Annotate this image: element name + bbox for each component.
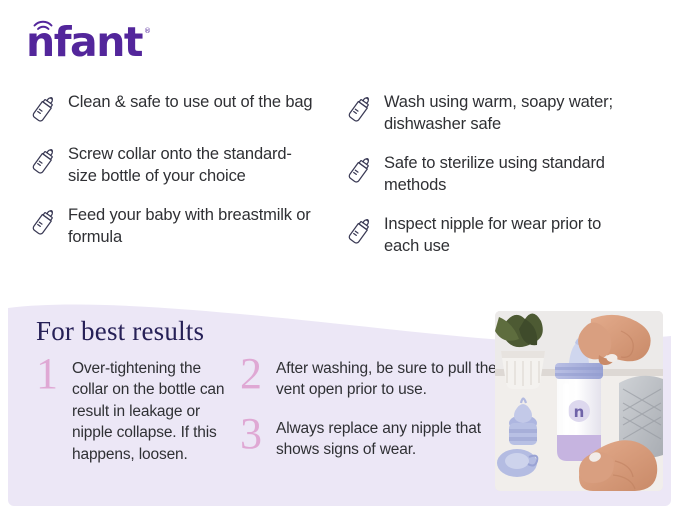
trademark-symbol: ® — [144, 27, 151, 35]
baby-bottle-icon — [26, 206, 60, 240]
baby-bottle-icon — [26, 93, 60, 127]
tip-text: After washing, be sure to pull the vent … — [276, 354, 498, 401]
tip-item: 1 Over-tightening the collar on the bott… — [36, 354, 236, 465]
tip-item: 3 Always replace any nipple that shows s… — [240, 414, 498, 461]
feature-text: Safe to sterilize using standard methods — [384, 153, 639, 197]
feature-item: Wash using warm, soapy water; dishwasher… — [342, 92, 658, 136]
baby-bottle-icon — [342, 154, 376, 188]
feature-text: Screw collar onto the standard-size bott… — [68, 144, 320, 188]
feature-text: Feed your baby with breastmilk or formul… — [68, 205, 320, 249]
feature-text: Clean & safe to use out of the bag — [68, 92, 312, 114]
tip-text: Always replace any nipple that shows sig… — [276, 414, 498, 461]
feature-list: Clean & safe to use out of the bag Screw… — [26, 92, 658, 275]
feature-text: Inspect nipple for wear prior to each us… — [384, 214, 639, 258]
baby-bottle-icon — [26, 145, 60, 179]
feature-item: Inspect nipple for wear prior to each us… — [342, 214, 658, 258]
feature-text: Wash using warm, soapy water; dishwasher… — [384, 92, 639, 136]
tip-item: 2 After washing, be sure to pull the ven… — [240, 354, 498, 401]
tip-number: 3 — [240, 414, 270, 454]
baby-bottle-icon — [342, 93, 376, 127]
feature-item: Clean & safe to use out of the bag — [26, 92, 342, 127]
baby-bottle-icon — [342, 215, 376, 249]
feature-item: Safe to sterilize using standard methods — [342, 153, 658, 197]
logo-wordmark: nfant — [26, 22, 142, 63]
tip-number: 2 — [240, 354, 270, 394]
feature-item: Feed your baby with breastmilk or formul… — [26, 205, 342, 249]
feature-column-left: Clean & safe to use out of the bag Screw… — [26, 92, 342, 275]
feature-item: Screw collar onto the standard-size bott… — [26, 144, 342, 188]
product-photo-hands-holding-bottle: n — [495, 311, 663, 491]
tip-number: 1 — [36, 354, 66, 394]
brand-logo: nfant ® — [26, 14, 206, 66]
feature-column-right: Wash using warm, soapy water; dishwasher… — [342, 92, 658, 275]
best-results-panel: For best results 1 Over-tightening the c… — [8, 292, 671, 506]
tip-text: Over-tightening the collar on the bottle… — [72, 354, 236, 465]
best-results-title: For best results — [36, 316, 204, 347]
svg-text:n: n — [574, 403, 585, 421]
